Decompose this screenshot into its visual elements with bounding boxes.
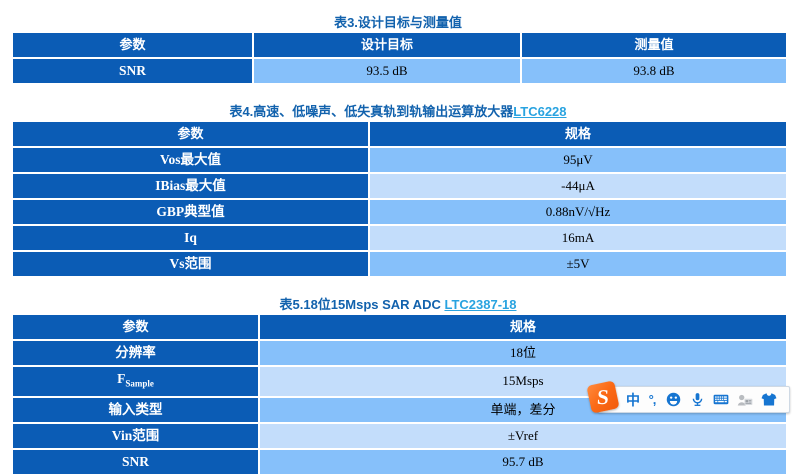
table4-opamp-ltc6228: 参数 规格 Vos最大值 95μV IBias最大值 -44μA GBP典型值 …: [11, 120, 788, 278]
table5-row0-spec: 18位: [260, 341, 786, 365]
table3-title-text: 表3.设计目标与测量值: [334, 15, 462, 30]
sogou-ime-toolbar[interactable]: S 中 °,: [598, 386, 790, 413]
table5-row3-spec: ±Vref: [260, 424, 786, 448]
table3-title: 表3.设计目标与测量值: [0, 12, 796, 31]
table4-row0-spec: 95μV: [370, 148, 786, 172]
table-row: Vos最大值 95μV: [13, 148, 786, 172]
sogou-logo-icon[interactable]: S: [586, 380, 619, 413]
table4-row2-param: GBP典型值: [13, 200, 368, 224]
table4-row3-param: Iq: [13, 226, 368, 250]
table4-row2-spec: 0.88nV/√Hz: [370, 200, 786, 224]
ime-punctuation-toggle[interactable]: °,: [643, 387, 661, 412]
ime-input-mode-label: 中: [626, 390, 640, 410]
table3-header-row: 参数 设计目标 测量值: [13, 33, 786, 57]
table-row: IBias最大值 -44μA: [13, 174, 786, 198]
table3-col-header-measured: 测量值: [522, 33, 786, 57]
table5-row4-param: SNR: [13, 450, 258, 474]
table5-row0-param: 分辨率: [13, 341, 258, 365]
table4-row1-param: IBias最大值: [13, 174, 368, 198]
table-row: Vs范围 ±5V: [13, 252, 786, 276]
table4-row3-spec: 16mA: [370, 226, 786, 250]
table5-col-header-spec: 规格: [260, 315, 786, 339]
document-page: 表3.设计目标与测量值 参数 设计目标 测量值 SNR 93.5 dB 93.8…: [0, 0, 796, 466]
ime-punctuation-label: °,: [649, 392, 656, 407]
keyboard-icon[interactable]: [709, 387, 733, 412]
table5-title: 表5.18位15Msps SAR ADC LTC2387-18: [0, 294, 796, 313]
table5-row4-spec: 95.7 dB: [260, 450, 786, 474]
table4-title-text: 表4.高速、低噪声、低失真轨到轨输出运算放大器: [229, 104, 513, 119]
table3-row0-param: SNR: [13, 59, 252, 83]
table-row: Vin范围 ±Vref: [13, 424, 786, 448]
table5-header-row: 参数 规格: [13, 315, 786, 339]
sogou-logo-letter: S: [596, 387, 609, 408]
table4-col-header-param: 参数: [13, 122, 368, 146]
table4-title-partnumber-link[interactable]: LTC6228: [513, 104, 566, 119]
table5-row1-param-subscript: Sample: [125, 379, 154, 389]
table-row: SNR 93.5 dB 93.8 dB: [13, 59, 786, 83]
table5-row3-param: Vin范围: [13, 424, 258, 448]
table3-row0-measured: 93.8 dB: [522, 59, 786, 83]
table4-row4-param: Vs范围: [13, 252, 368, 276]
table4-row4-spec: ±5V: [370, 252, 786, 276]
table4-row0-param: Vos最大值: [13, 148, 368, 172]
table5-title-text: 表5.18位15Msps SAR ADC: [280, 297, 445, 312]
table3-col-header-param: 参数: [13, 33, 252, 57]
table4-title: 表4.高速、低噪声、低失真轨到轨输出运算放大器LTC6228: [0, 101, 796, 120]
table4-col-header-spec: 规格: [370, 122, 786, 146]
table5-title-partnumber-link[interactable]: LTC2387-18: [444, 297, 516, 312]
table3-col-header-design: 设计目标: [254, 33, 520, 57]
table3-row0-design: 93.5 dB: [254, 59, 520, 83]
microphone-icon[interactable]: [685, 387, 709, 412]
emoji-icon[interactable]: [661, 387, 685, 412]
table5-row1-param: FSample: [13, 367, 258, 396]
table-row: 分辨率 18位: [13, 341, 786, 365]
table3-design-vs-measured: 参数 设计目标 测量值 SNR 93.5 dB 93.8 dB: [11, 31, 788, 85]
table5-row2-param: 输入类型: [13, 398, 258, 422]
table5-col-header-param: 参数: [13, 315, 258, 339]
table-row: Iq 16mA: [13, 226, 786, 250]
user-card-icon[interactable]: [733, 387, 757, 412]
table-row: SNR 95.7 dB: [13, 450, 786, 474]
ime-input-mode-toggle[interactable]: 中: [623, 387, 643, 412]
table-row: GBP典型值 0.88nV/√Hz: [13, 200, 786, 224]
tshirt-skin-icon[interactable]: [757, 387, 781, 412]
table4-row1-spec: -44μA: [370, 174, 786, 198]
table4-header-row: 参数 规格: [13, 122, 786, 146]
